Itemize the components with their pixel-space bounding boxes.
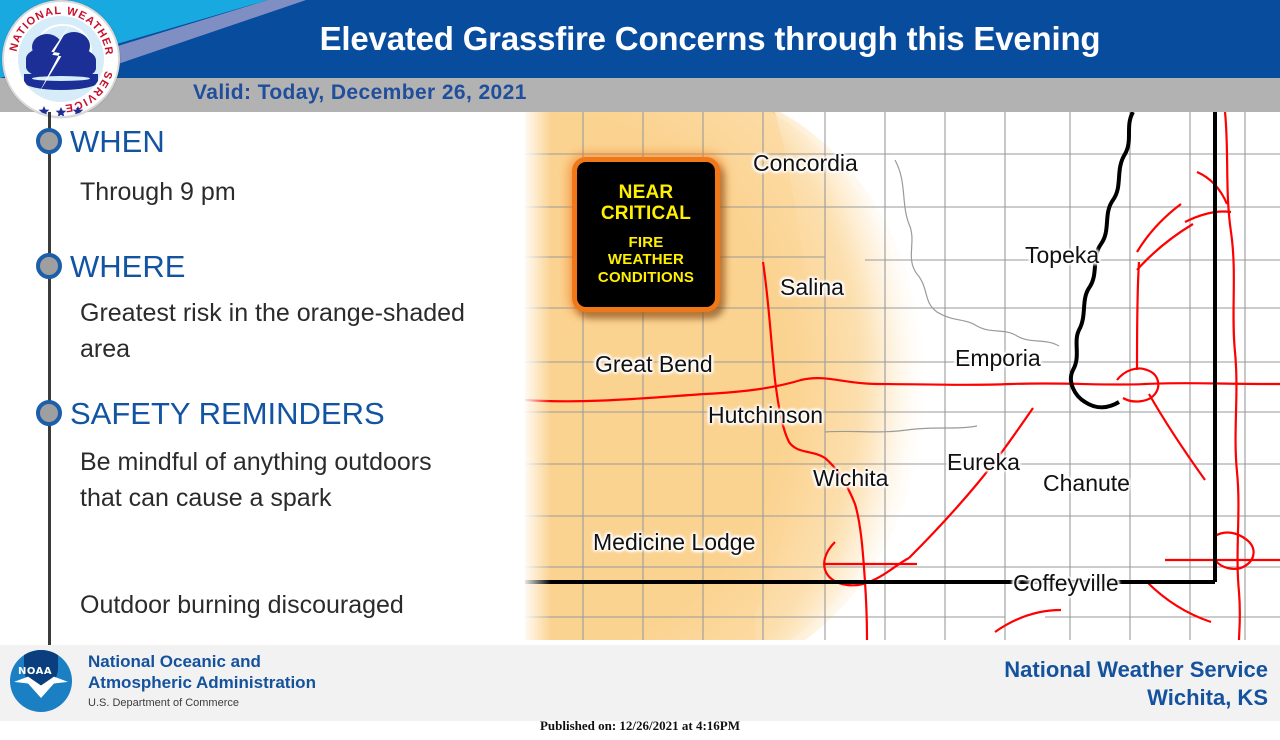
city-label-concordia: Concordia xyxy=(753,150,858,177)
callout-line-5: CONDITIONS xyxy=(598,269,694,287)
section-body-safety: Be mindful of anything outdoors that can… xyxy=(80,445,440,516)
callout-line-1: NEAR xyxy=(601,182,691,203)
city-label-great-bend: Great Bend xyxy=(595,351,713,378)
section-heading-when: WHEN xyxy=(70,124,165,160)
callout-line-4: WEATHER xyxy=(598,251,694,269)
section-heading-safety: SAFETY REMINDERS xyxy=(70,396,385,432)
noaa-agency-line-1: National Oceanic and xyxy=(88,652,316,673)
page-title: Elevated Grassfire Concerns through this… xyxy=(150,0,1270,78)
noaa-logo-wordmark: NOAA xyxy=(18,666,52,678)
issuing-office: National Weather Service Wichita, KS xyxy=(1004,656,1268,711)
noaa-agency-name: National Oceanic and Atmospheric Adminis… xyxy=(88,652,316,693)
city-label-emporia: Emporia xyxy=(955,345,1041,372)
issuing-office-line-2: Wichita, KS xyxy=(1004,684,1268,712)
nws-logo-icon: NATIONAL WEATHER SERVICE xyxy=(2,0,120,118)
city-label-hutchinson: Hutchinson xyxy=(708,402,823,429)
section-body-safety-2: Outdoor burning discouraged xyxy=(80,588,510,624)
city-label-eureka: Eureka xyxy=(947,449,1020,476)
valid-bar xyxy=(0,78,1280,112)
noaa-logo-icon xyxy=(10,650,72,712)
city-label-salina: Salina xyxy=(780,274,844,301)
published-timestamp: Published on: 12/26/2021 at 4:16PM xyxy=(0,718,1280,734)
callout-headline: NEAR CRITICAL xyxy=(601,182,691,225)
header-banner: Elevated Grassfire Concerns through this… xyxy=(0,0,1280,78)
callout-line-3: FIRE xyxy=(598,234,694,252)
weather-graphic: Elevated Grassfire Concerns through this… xyxy=(0,0,1280,740)
svg-text:SERVICE: SERVICE xyxy=(63,69,114,114)
nws-logo-ring-text: NATIONAL WEATHER SERVICE xyxy=(4,2,118,116)
fire-weather-callout: NEAR CRITICAL FIRE WEATHER CONDITIONS xyxy=(572,157,720,312)
timeline-bullet-safety xyxy=(36,400,62,426)
timeline-rail xyxy=(48,112,51,667)
city-label-wichita: Wichita xyxy=(813,465,888,492)
section-body-when: Through 9 pm xyxy=(80,175,480,211)
city-label-chanute: Chanute xyxy=(1043,470,1130,497)
callout-line-2: CRITICAL xyxy=(601,203,691,224)
timeline-bullet-when xyxy=(36,128,62,154)
issuing-office-line-1: National Weather Service xyxy=(1004,656,1268,684)
city-label-topeka: Topeka xyxy=(1025,242,1099,269)
section-heading-where: WHERE xyxy=(70,249,185,285)
noaa-agency-line-2: Atmospheric Administration xyxy=(88,673,316,694)
svg-text:NATIONAL WEATHER: NATIONAL WEATHER xyxy=(8,5,115,57)
section-body-where: Greatest risk in the orange-shaded area xyxy=(80,296,470,367)
valid-label: Valid: Today, December 26, 2021 xyxy=(193,81,527,105)
timeline-bullet-where xyxy=(36,253,62,279)
city-label-medicine-lodge: Medicine Lodge xyxy=(593,529,755,556)
noaa-department-line: U.S. Department of Commerce xyxy=(88,697,239,709)
city-label-coffeyville: Coffeyville xyxy=(1013,570,1119,597)
callout-subline: FIRE WEATHER CONDITIONS xyxy=(598,234,694,287)
